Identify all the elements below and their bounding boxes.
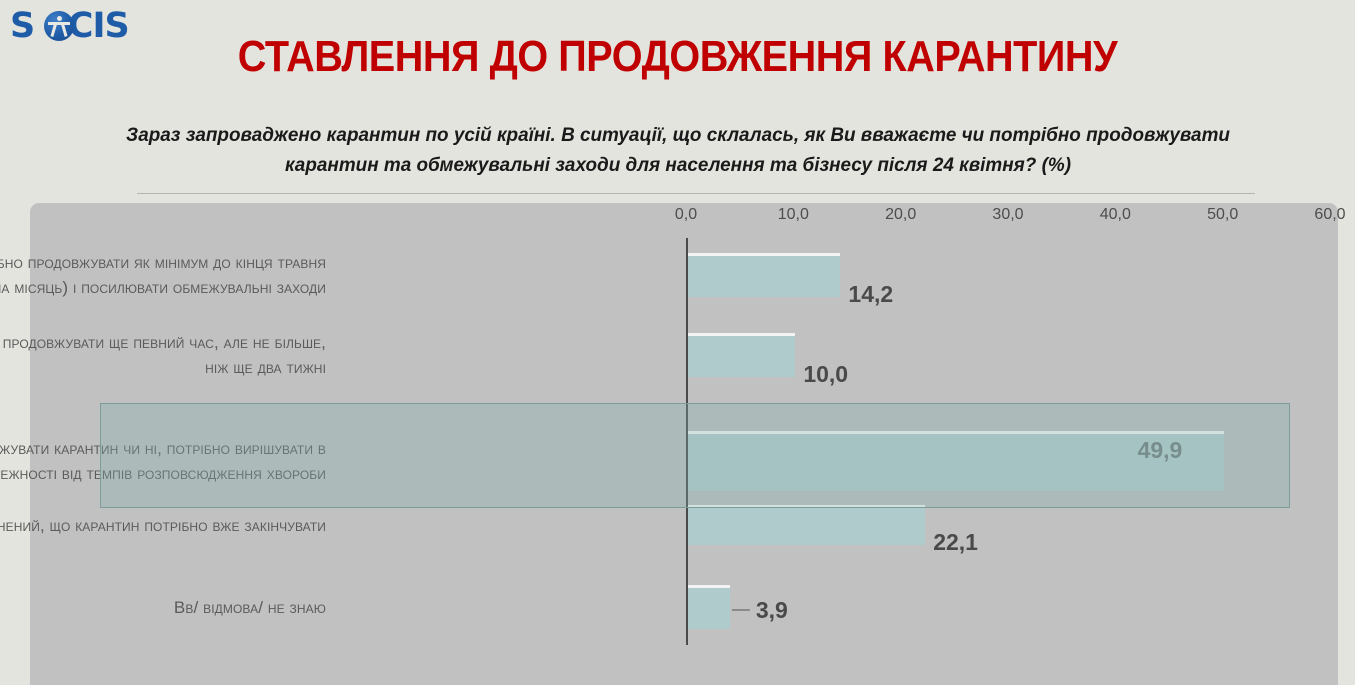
category-label-line: (ще на місяць) і посилювати обмежувальні… — [0, 275, 326, 300]
bar-row: ВВ/ Відмова/ Не знаю3,9 — [30, 571, 1338, 641]
header-divider — [137, 193, 1255, 194]
category-label-line: Карантин потрібно продовжувати як мініму… — [0, 250, 326, 275]
x-tick-2: 20,0 — [885, 206, 916, 224]
category-label-line: Карантин потрібно продовжувати ще певний… — [0, 330, 326, 355]
subtitle-line-2: карантин та обмежувальні заходи для насе… — [67, 150, 1289, 180]
x-tick-0: 0,0 — [675, 206, 697, 224]
bar-value-label: 14,2 — [848, 281, 893, 308]
x-tick-5: 50,0 — [1207, 206, 1238, 224]
chart-panel: 0,010,020,030,040,050,060,0 Карантин пот… — [30, 203, 1338, 685]
category-label: ВВ/ Відмова/ Не знаю — [0, 595, 326, 620]
category-label: Я впевнений, що карантин потрібно вже за… — [0, 513, 326, 538]
category-label: Карантин потрібно продовжувати як мініму… — [0, 250, 326, 300]
bar-value-label: 22,1 — [933, 529, 978, 556]
category-label-line: ВВ/ Відмова/ Не знаю — [0, 595, 326, 620]
bar-value-label: 3,9 — [756, 597, 788, 624]
bar-row: Я впевнений, що карантин потрібно вже за… — [30, 499, 1338, 571]
bar-row: Карантин потрібно продовжувати ще певний… — [30, 321, 1338, 403]
x-tick-6: 60,0 — [1314, 206, 1345, 224]
page-title: СТАВЛЕННЯ ДО ПРОДОВЖЕННЯ КАРАНТИНУ — [68, 32, 1288, 82]
x-tick-3: 30,0 — [992, 206, 1023, 224]
subtitle-line-1: Зараз запроваджено карантин по усій краї… — [67, 120, 1289, 150]
bar[interactable] — [686, 333, 795, 377]
highlight-box — [100, 403, 1290, 508]
category-label-line: Я впевнений, що карантин потрібно вже за… — [0, 513, 326, 538]
x-tick-1: 10,0 — [778, 206, 809, 224]
x-tick-4: 40,0 — [1100, 206, 1131, 224]
bar[interactable] — [686, 505, 925, 545]
category-label-line: ніж ще два тижні — [0, 355, 326, 380]
bar[interactable] — [686, 585, 730, 629]
question-subtitle: Зараз запроваджено карантин по усій краї… — [67, 120, 1289, 180]
bar[interactable] — [686, 253, 840, 297]
category-label: Карантин потрібно продовжувати ще певний… — [0, 330, 326, 380]
bar-row: Карантин потрібно продовжувати як мініму… — [30, 241, 1338, 321]
bar-value-label: 10,0 — [803, 361, 848, 388]
